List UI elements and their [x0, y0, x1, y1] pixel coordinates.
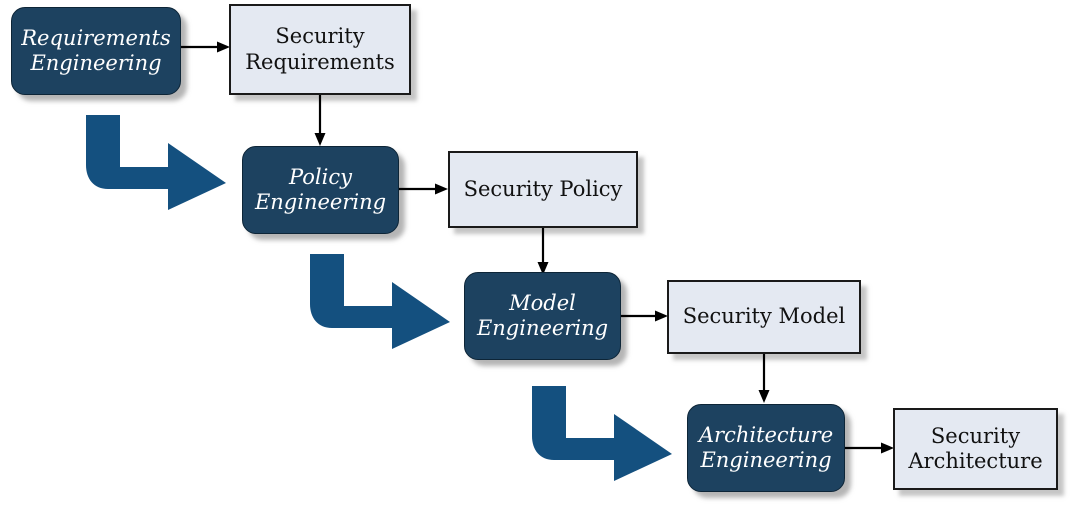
- arrow-architecture-to-security-architecture: [845, 441, 895, 455]
- artifact-label-security-architecture: Security Architecture: [895, 424, 1056, 474]
- artifact-label-security-policy: Security Policy: [450, 177, 636, 202]
- artifact-label-security-requirements: Security Requirements: [231, 24, 409, 74]
- process-label-model-engineering: Model Engineering: [465, 291, 620, 341]
- artifact-node-security-requirements[interactable]: Security Requirements: [229, 4, 411, 95]
- diagram-canvas: Requirements Engineering Security Requir…: [0, 0, 1075, 505]
- arrow-requirements-to-security-requirements: [181, 40, 231, 54]
- arrow-policy-to-security-policy: [399, 182, 449, 196]
- process-label-policy-engineering: Policy Engineering: [243, 165, 398, 215]
- arrow-security-policy-to-model-engineering: [536, 228, 550, 276]
- big-arrow-requirements-to-policy: [78, 113, 230, 213]
- process-node-policy-engineering[interactable]: Policy Engineering: [242, 146, 399, 234]
- arrow-security-model-to-architecture-engineering: [757, 354, 771, 404]
- process-label-requirements-engineering: Requirements Engineering: [12, 26, 180, 76]
- process-node-requirements-engineering[interactable]: Requirements Engineering: [11, 7, 181, 95]
- arrow-model-to-security-model: [621, 309, 669, 323]
- artifact-node-security-architecture[interactable]: Security Architecture: [893, 408, 1058, 490]
- big-arrow-model-to-architecture: [524, 384, 676, 484]
- artifact-node-security-model[interactable]: Security Model: [667, 280, 861, 354]
- process-node-architecture-engineering[interactable]: Architecture Engineering: [687, 404, 845, 492]
- process-label-architecture-engineering: Architecture Engineering: [688, 423, 844, 473]
- arrow-security-requirements-to-policy-engineering: [313, 95, 327, 147]
- process-node-model-engineering[interactable]: Model Engineering: [464, 272, 621, 360]
- artifact-label-security-model: Security Model: [669, 304, 859, 329]
- big-arrow-policy-to-model: [302, 252, 454, 352]
- artifact-node-security-policy[interactable]: Security Policy: [448, 151, 638, 228]
